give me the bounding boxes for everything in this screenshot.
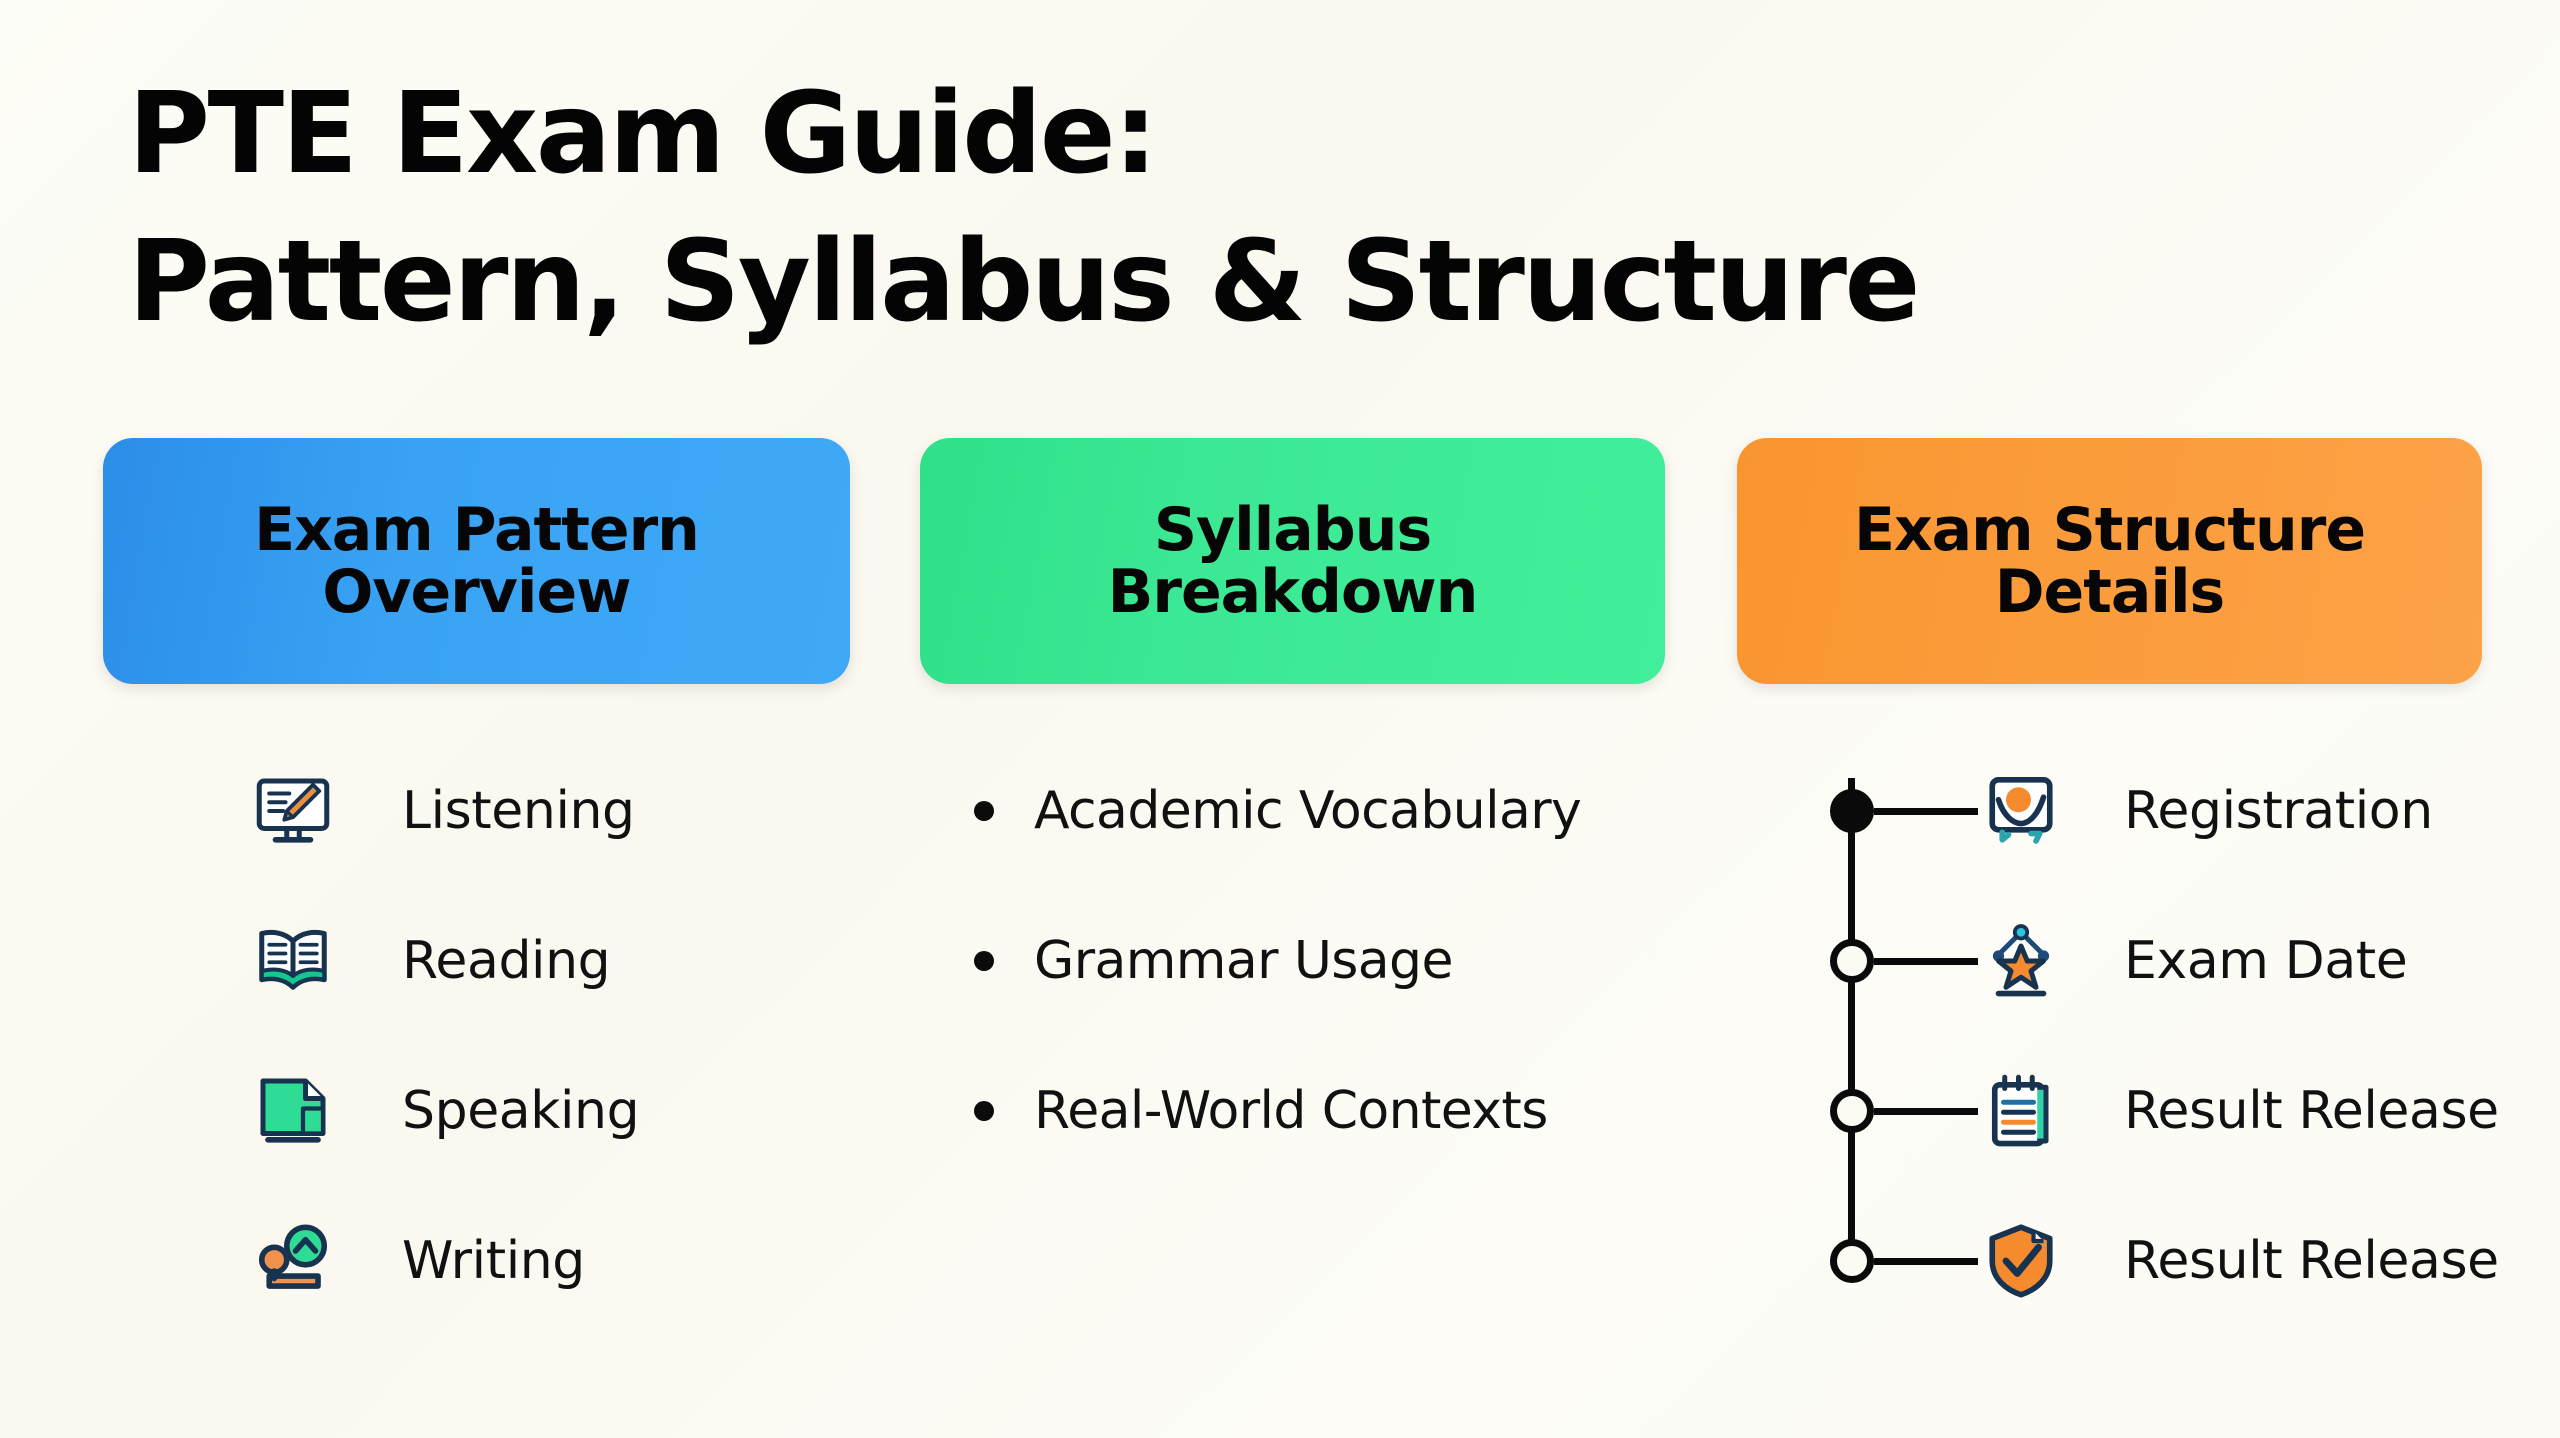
title-line-2: Pattern, Syllabus & Structure	[128, 226, 2328, 338]
inbox-check-icon	[1978, 768, 2064, 854]
list-item[interactable]: Real-World Contexts	[960, 1036, 1680, 1186]
title-line-1: PTE Exam Guide:	[128, 78, 2328, 190]
shield-check-icon	[1978, 1218, 2064, 1304]
page-title: PTE Exam Guide: Pattern, Syllabus & Stru…	[128, 78, 2328, 338]
card-title-line-2: Details	[1995, 561, 2225, 623]
timeline-item-label: Exam Date	[2124, 931, 2407, 991]
list-item-label: Writing	[402, 1231, 585, 1291]
timeline-item-label: Registration	[2124, 781, 2433, 841]
card-title-line-1: Exam Pattern	[254, 499, 699, 561]
timeline-item[interactable]: Result Release	[1830, 1186, 2530, 1336]
structure-timeline: Registration Exam Date	[1830, 736, 2530, 1336]
list-item-label: Speaking	[402, 1081, 639, 1141]
card-title-line-2: Overview	[322, 561, 630, 623]
list-item-label: Reading	[402, 931, 610, 991]
list-item-label: Academic Vocabulary	[1034, 781, 1581, 841]
timeline-item-label: Result Release	[2124, 1081, 2499, 1141]
writing-person-icon	[250, 1218, 336, 1304]
header-cards: Exam Pattern Overview Syllabus Breakdown…	[0, 438, 2560, 684]
timeline-connector	[1874, 958, 1978, 965]
card-title-line-1: Syllabus	[1154, 499, 1431, 561]
list-item[interactable]: Academic Vocabulary	[960, 736, 1680, 886]
timeline-node-icon	[1830, 789, 1874, 833]
timeline-connector	[1874, 808, 1978, 815]
list-item-label: Real-World Contexts	[1034, 1081, 1548, 1141]
bullet-dot-icon	[974, 801, 994, 821]
timeline-node-icon	[1830, 1089, 1874, 1133]
timeline-connector	[1874, 1258, 1978, 1265]
open-book-icon	[250, 918, 336, 1004]
card-exam-pattern-overview[interactable]: Exam Pattern Overview	[103, 438, 850, 684]
document-stack-icon	[250, 1068, 336, 1154]
list-item[interactable]: Grammar Usage	[960, 886, 1680, 1036]
card-syllabus-breakdown[interactable]: Syllabus Breakdown	[920, 438, 1665, 684]
timeline-node-icon	[1830, 1239, 1874, 1283]
bullet-dot-icon	[974, 1101, 994, 1121]
infographic-canvas: PTE Exam Guide: Pattern, Syllabus & Stru…	[0, 0, 2560, 1438]
timeline-item[interactable]: Result Release	[1830, 1036, 2530, 1186]
monitor-pen-icon	[250, 768, 336, 854]
card-title-line-1: Exam Structure	[1854, 499, 2365, 561]
timeline-item[interactable]: Registration	[1830, 736, 2530, 886]
card-title-line-2: Breakdown	[1108, 561, 1478, 623]
card-exam-structure-details[interactable]: Exam Structure Details	[1737, 438, 2482, 684]
syllabus-list: Academic Vocabulary Grammar Usage Real-W…	[960, 736, 1680, 1186]
list-item[interactable]: Speaking	[250, 1036, 890, 1186]
list-item[interactable]: Listening	[250, 736, 890, 886]
exam-pattern-list: Listening Reading	[250, 736, 890, 1336]
bullet-dot-icon	[974, 951, 994, 971]
star-badge-icon	[1978, 918, 2064, 1004]
list-item-label: Listening	[402, 781, 635, 841]
list-item[interactable]: Reading	[250, 886, 890, 1036]
timeline-connector	[1874, 1108, 1978, 1115]
timeline-node-icon	[1830, 939, 1874, 983]
timeline-item-label: Result Release	[2124, 1231, 2499, 1291]
list-item-label: Grammar Usage	[1034, 931, 1453, 991]
list-item[interactable]: Writing	[250, 1186, 890, 1336]
timeline-item[interactable]: Exam Date	[1830, 886, 2530, 1036]
clipboard-notes-icon	[1978, 1068, 2064, 1154]
